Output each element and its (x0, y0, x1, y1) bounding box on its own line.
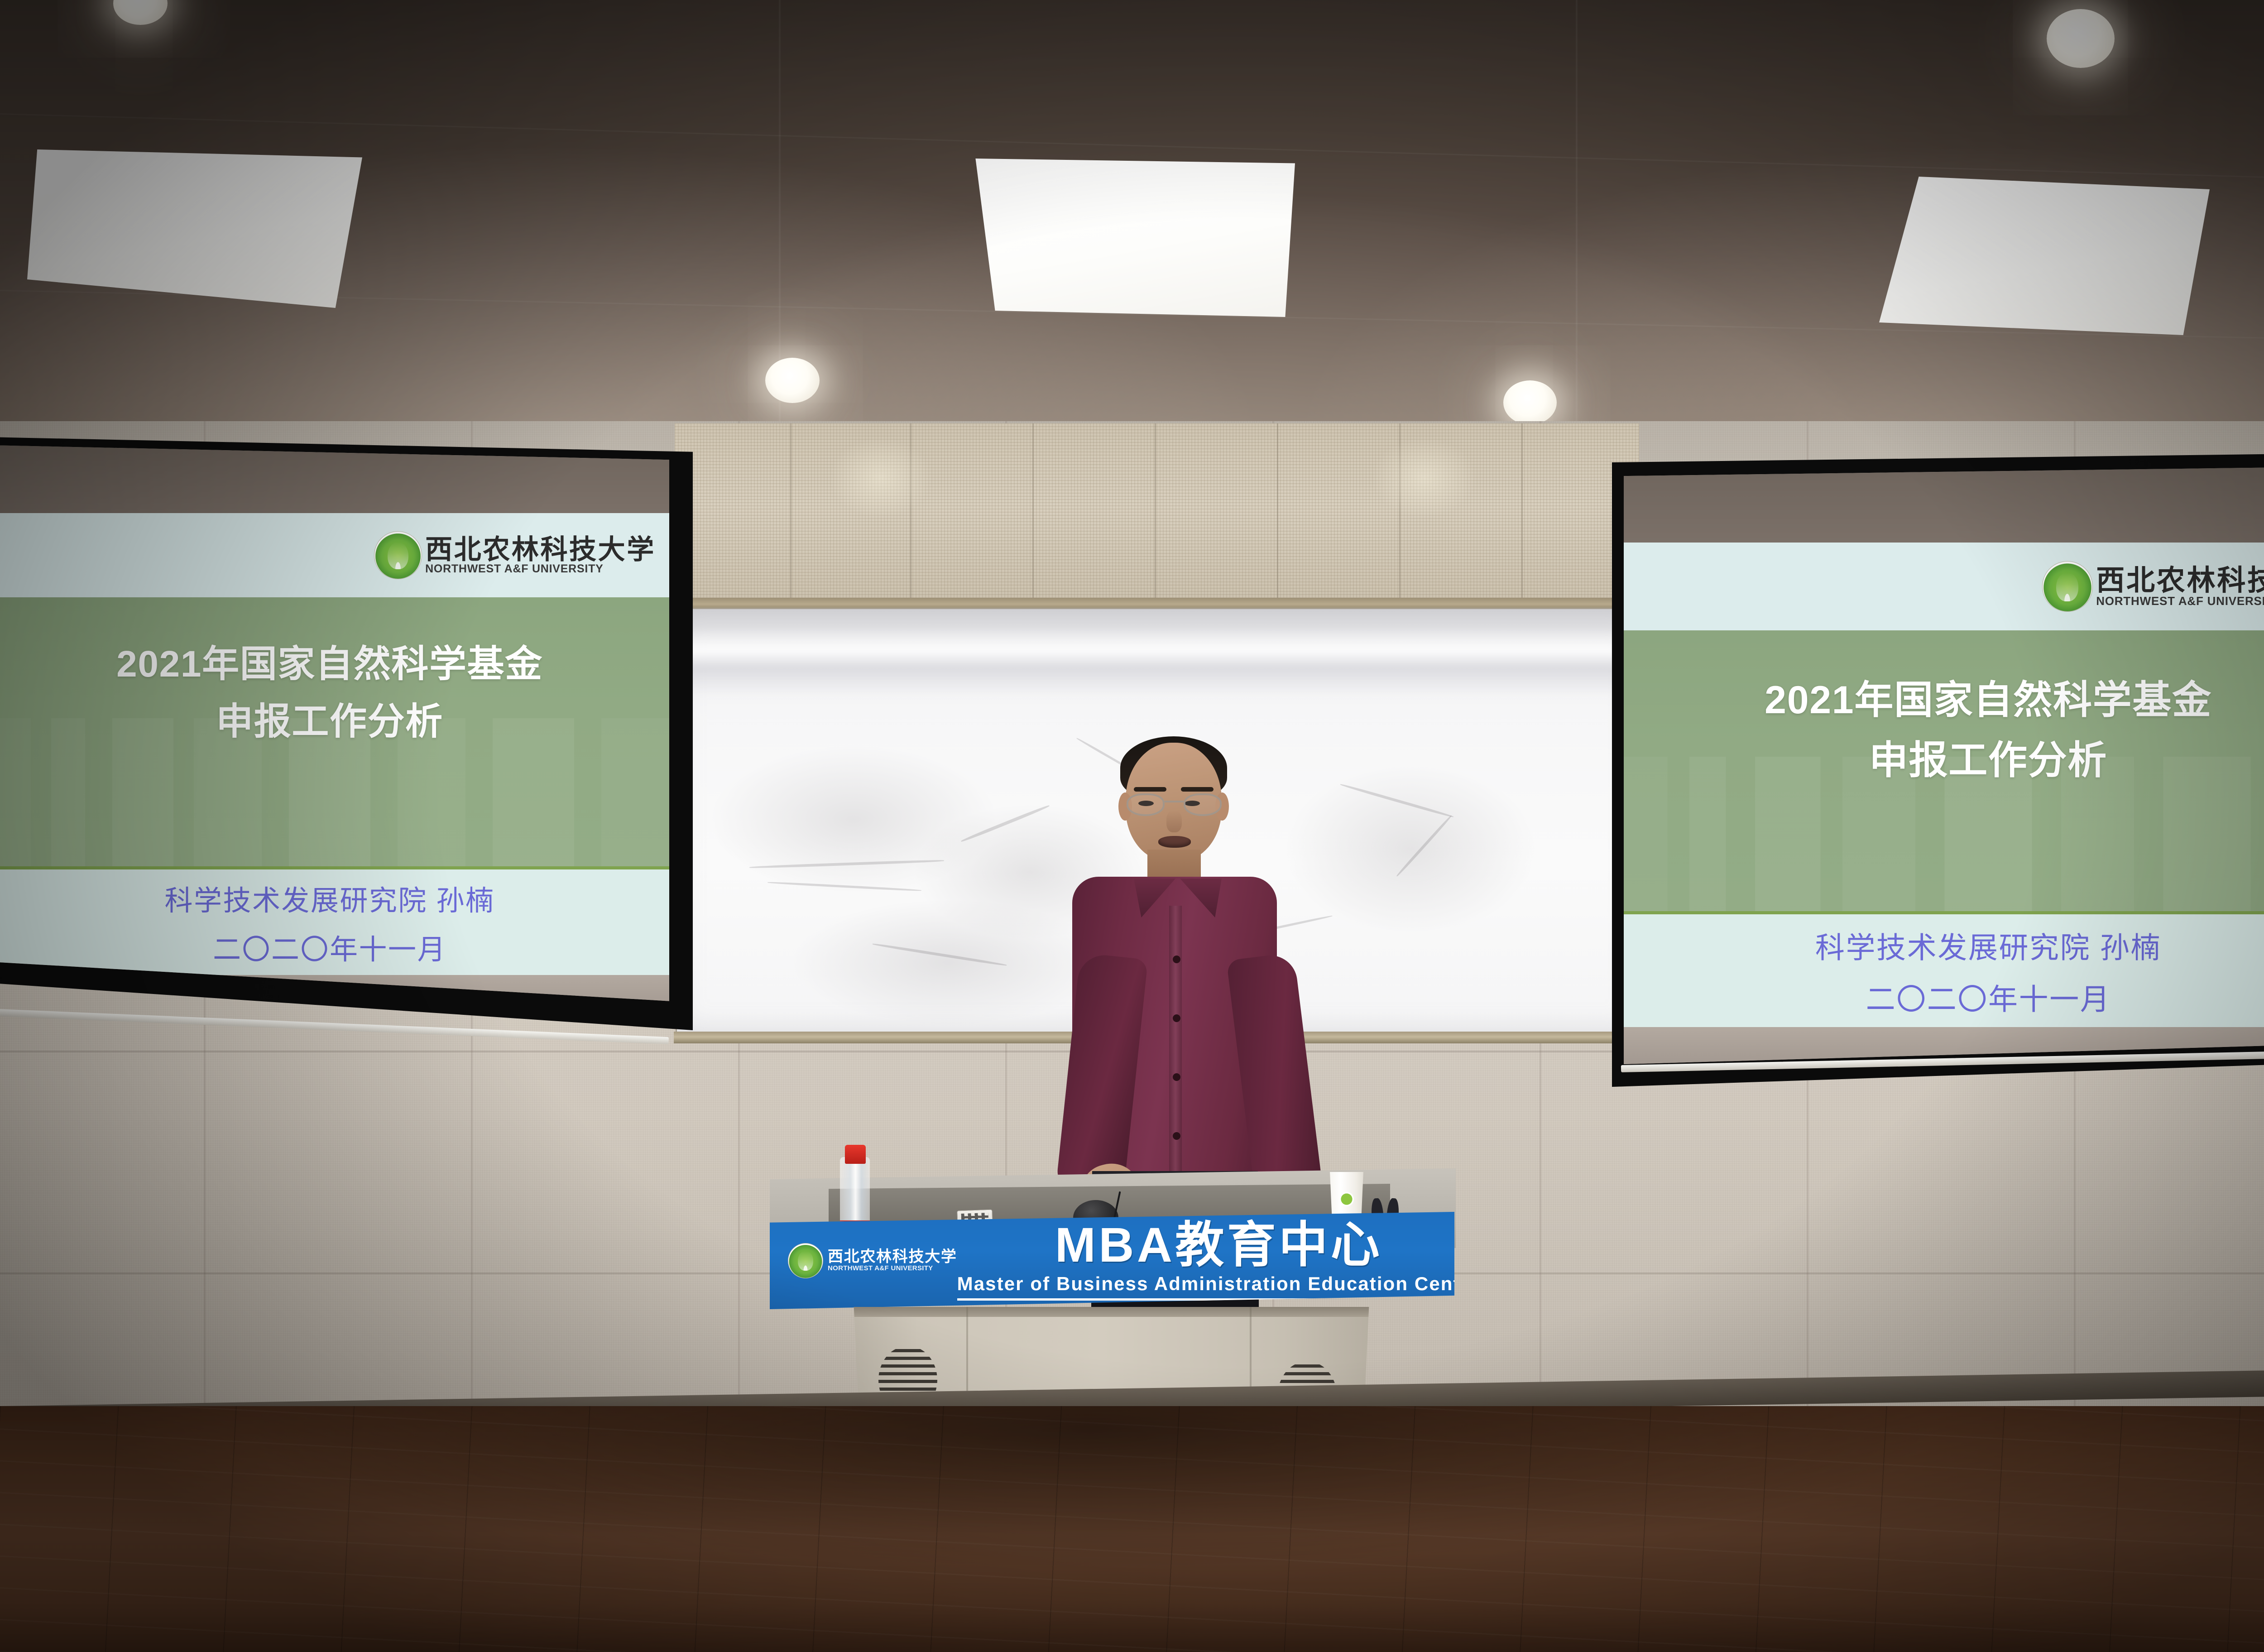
ceiling-led-panel (27, 149, 362, 308)
left-projection-screen[interactable]: 西北农林科技大学 NORTHWEST A&F UNIVERSITY 2021年国… (0, 437, 693, 1030)
ceiling-led-panel (969, 158, 1295, 317)
podium-sign-cn: MBA教育中心 (1055, 1220, 1382, 1269)
slide-footer-line1: 科学技术发展研究院 孙楠 (1815, 924, 2161, 966)
podium-sign: 西北农林科技大学 NORTHWEST A&F UNIVERSITY MBA教育中… (770, 1212, 1454, 1309)
floor-shadow (0, 1406, 2264, 1652)
university-logo-icon (374, 531, 422, 579)
slide-right: 西北农林科技大学 NORTHWEST A&F UNIVERSITY 2021年国… (1624, 543, 2264, 1027)
ceiling (0, 0, 2264, 462)
ceiling-downlight (113, 0, 168, 25)
ceiling-led-panel (1879, 177, 2210, 335)
slide-left: 西北农林科技大学 NORTHWEST A&F UNIVERSITY 2021年国… (0, 513, 669, 975)
ceiling-downlight (765, 358, 820, 403)
university-logo-icon (788, 1243, 823, 1278)
university-name-en: NORTHWEST A&F UNIVERSITY (425, 563, 656, 575)
slide-header: 西北农林科技大学 NORTHWEST A&F UNIVERSITY (0, 513, 669, 597)
podium-university-cn: 西北农林科技大学 (828, 1249, 957, 1265)
podium-university-en: NORTHWEST A&F UNIVERSITY (828, 1265, 957, 1272)
slide-footer: 科学技术发展研究院 孙楠 二〇二〇年十一月 (1624, 914, 2264, 1027)
slide-title-line1: 2021年国家自然科学基金 (0, 635, 669, 693)
slide-footer-line1: 科学技术发展研究院 孙楠 (165, 878, 495, 918)
right-screen-surface: 西北农林科技大学 NORTHWEST A&F UNIVERSITY 2021年国… (1624, 466, 2264, 1064)
slide-header: 西北农林科技大学 NORTHWEST A&F UNIVERSITY (1624, 543, 2264, 630)
university-logo-icon (2042, 561, 2093, 612)
ceiling-downlight (1503, 380, 1557, 425)
right-projection-screen[interactable]: 西北农林科技大学 NORTHWEST A&F UNIVERSITY 2021年国… (1612, 453, 2264, 1087)
slide-title: 2021年国家自然科学基金 申报工作分析 (1624, 630, 2264, 791)
university-name-cn: 西北农林科技大学 (2096, 566, 2264, 595)
slide-title-line2: 申报工作分析 (0, 693, 669, 750)
slide-title-line1: 2021年国家自然科学基金 (1624, 670, 2264, 730)
left-screen-surface: 西北农林科技大学 NORTHWEST A&F UNIVERSITY 2021年国… (0, 445, 669, 1007)
slide-divider (1624, 911, 2264, 914)
shirt-placket (1169, 906, 1182, 1191)
mouth (1158, 836, 1191, 848)
slide-body: 2021年国家自然科学基金 申报工作分析 (1624, 630, 2264, 911)
acoustic-panel (675, 423, 1639, 605)
slide-title-line2: 申报工作分析 (1624, 730, 2264, 791)
slide-body: 2021年国家自然科学基金 申报工作分析 (0, 597, 669, 866)
water-bottle-cap (845, 1145, 866, 1164)
lecture-hall-scene: 西北农林科技大学 NORTHWEST A&F UNIVERSITY 2021年国… (0, 0, 2264, 1652)
slide-footer-line2: 二〇二〇年十一月 (213, 927, 446, 967)
university-name-cn: 西北农林科技大学 (425, 536, 656, 563)
slide-footer: 科学技术发展研究院 孙楠 二〇二〇年十一月 (0, 869, 669, 975)
ceiling-downlight (2047, 9, 2115, 68)
podium-sign-en: Master of Business Administration Educat… (957, 1273, 1454, 1301)
podium-logo: 西北农林科技大学 NORTHWEST A&F UNIVERSITY (770, 1243, 957, 1278)
university-name-en: NORTHWEST A&F UNIVERSITY (2096, 595, 2264, 607)
slide-footer-line2: 二〇二〇年十一月 (1866, 975, 2111, 1018)
slide-divider (0, 866, 669, 869)
nose (1166, 811, 1182, 832)
slide-title: 2021年国家自然科学基金 申报工作分析 (0, 597, 669, 750)
